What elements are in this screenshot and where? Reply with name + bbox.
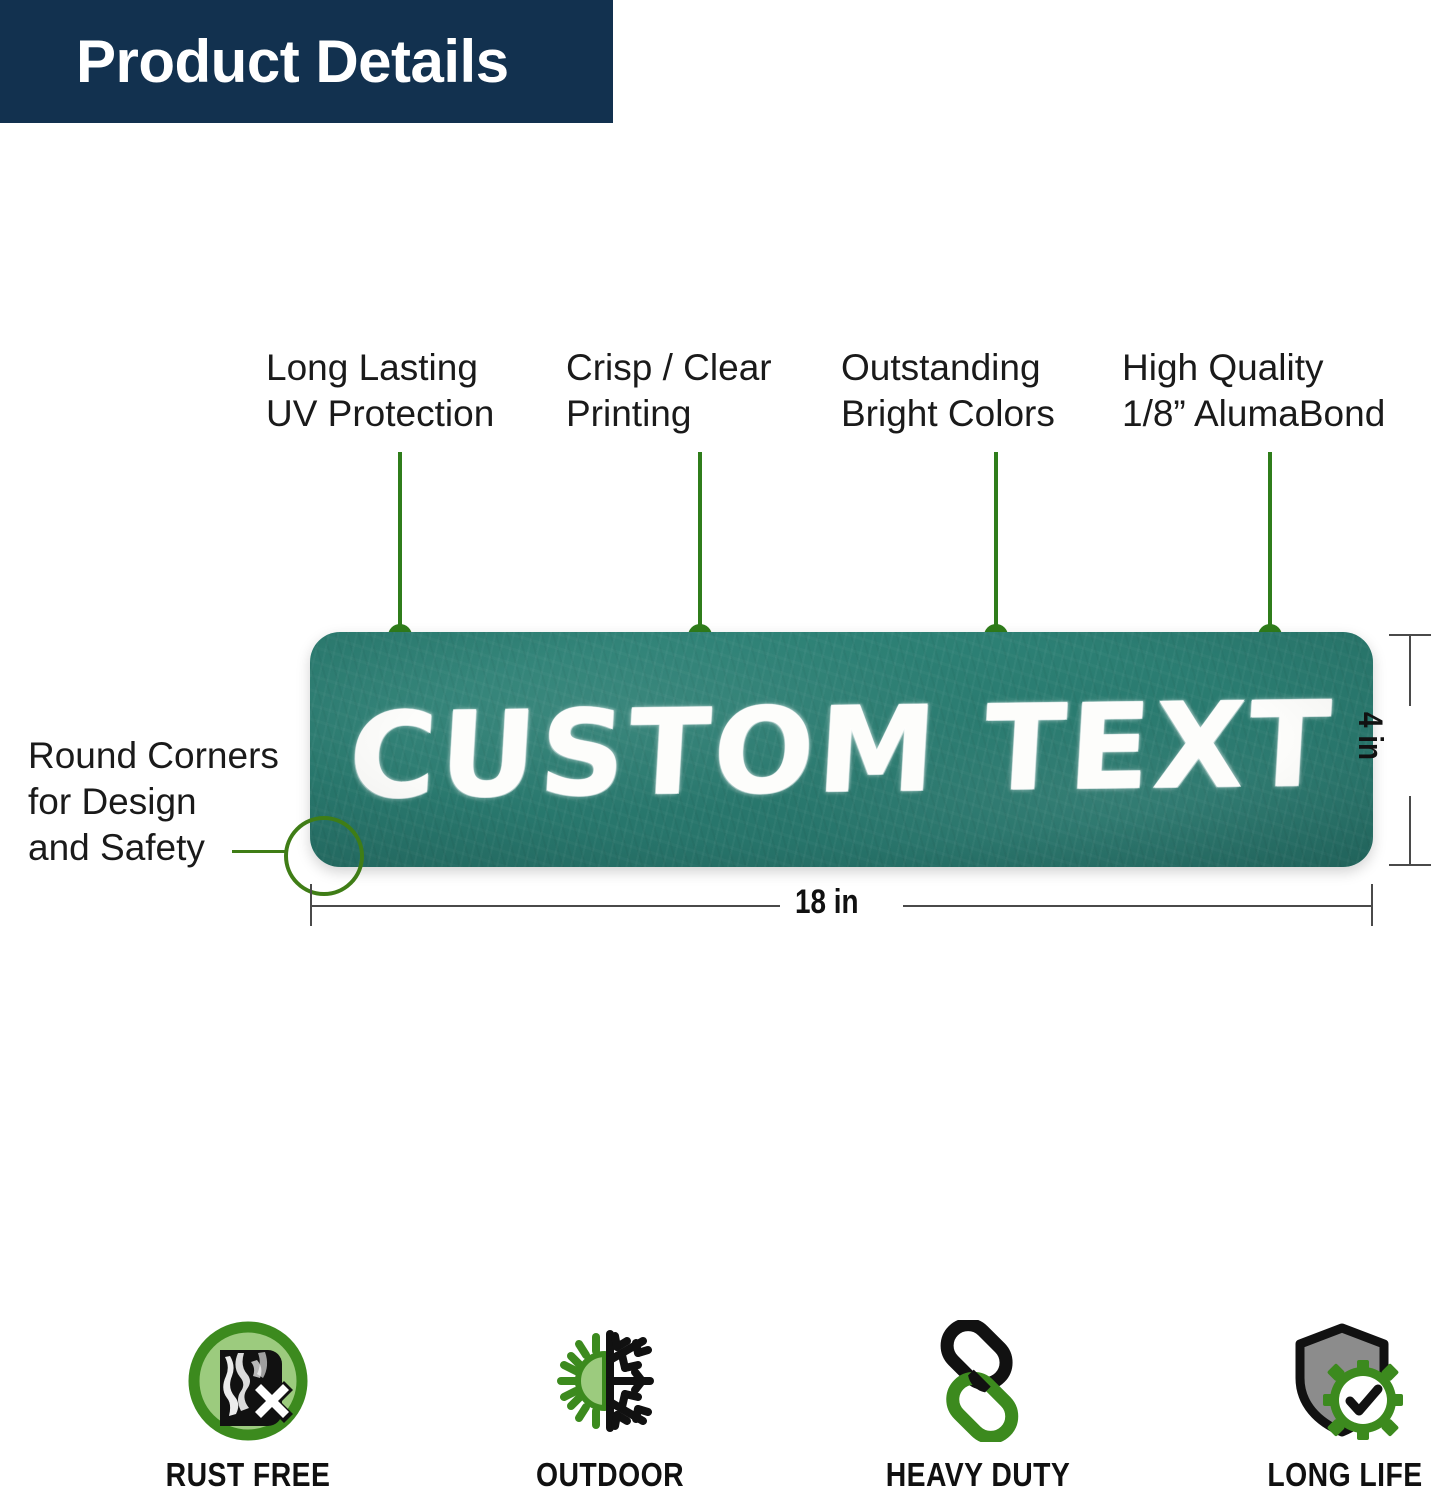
feature-long-life: LONG LIFE [1205,1320,1435,1494]
callout-label-alumabond: High Quality 1/8” AlumaBond [1122,345,1385,437]
callout-label-uv-protection: Long Lasting UV Protection [266,345,494,437]
dim-label-height: 4 in [1350,712,1389,760]
feature-label-outdoor: OUTDOOR [490,1456,731,1494]
sun-snowflake-icon [470,1320,750,1442]
leader-line-alumabond [1268,452,1272,638]
feature-outdoor: OUTDOOR [470,1320,750,1494]
chain-link-icon [838,1320,1118,1442]
feature-label-rust-free: RUST FREE [128,1456,369,1494]
leader-line-crisp-printing [698,452,702,638]
sign-board: CUSTOM TEXT [310,632,1373,867]
dim-line-width-left [310,905,780,907]
round-corner-highlight-circle [284,816,364,896]
header-banner: Product Details [0,0,613,123]
callout-label-bright-colors: Outstanding Bright Colors [841,345,1055,437]
page-title: Product Details [76,32,509,92]
leader-line-bright-colors [994,452,998,638]
feature-label-heavy-duty: HEAVY DUTY [858,1456,1099,1494]
dim-line-height-bottom [1409,796,1411,866]
leader-line-uv-protection [398,452,402,638]
dim-line-width-right [903,905,1373,907]
sign-custom-text: CUSTOM TEXT [310,632,1373,867]
feature-heavy-duty: HEAVY DUTY [838,1320,1118,1494]
feature-rust-free: RUST FREE [108,1320,388,1494]
dim-label-width: 18 in [795,883,859,922]
sign-preview: CUSTOM TEXT [310,632,1373,867]
shield-clock-icon [1205,1320,1435,1442]
product-details-infographic: Product Details Long Lasting UV Protecti… [0,0,1435,1500]
callout-label-crisp-printing: Crisp / Clear Printing [566,345,772,437]
feature-label-long-life: LONG LIFE [1225,1456,1435,1494]
feature-badge-row: RUST FREE [0,1320,1435,1500]
leader-line-round-corners [232,850,288,853]
dim-line-height-top [1409,634,1411,706]
rust-free-icon [108,1320,388,1442]
